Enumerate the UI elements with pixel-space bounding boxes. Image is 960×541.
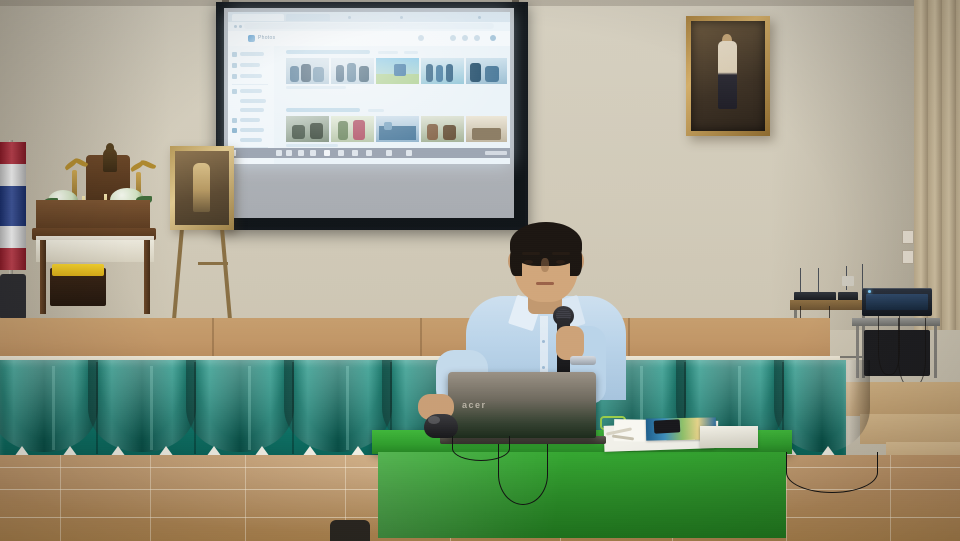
address-bar[interactable] xyxy=(244,23,494,29)
upload-icon[interactable] xyxy=(450,35,456,41)
taskbar-icon[interactable] xyxy=(386,150,392,156)
mouse-highlight xyxy=(428,416,440,424)
os-taskbar[interactable] xyxy=(228,148,510,158)
thai-flag xyxy=(0,142,26,270)
photo-thumbnail[interactable] xyxy=(376,116,419,142)
stacked-books xyxy=(700,426,758,448)
taskbar-icon[interactable] xyxy=(352,150,358,156)
tab-dot-icon xyxy=(400,16,403,19)
share-icon xyxy=(232,74,237,79)
antenna xyxy=(800,268,801,294)
section-title xyxy=(286,50,370,54)
archive-icon xyxy=(232,118,237,123)
cable-bundle xyxy=(330,520,370,541)
wall-outlet xyxy=(902,250,914,264)
sidebar-item-label xyxy=(240,74,262,78)
help-icon[interactable] xyxy=(462,35,468,41)
hair-side-left xyxy=(510,246,522,276)
settings-icon[interactable] xyxy=(474,35,480,41)
desk-highlight xyxy=(378,452,786,538)
cable xyxy=(878,316,900,375)
photo-scene: Photos xyxy=(0,0,960,541)
section-meta xyxy=(404,51,418,54)
small-box xyxy=(842,276,854,286)
taskbar-icon[interactable] xyxy=(310,150,316,156)
app-sidebar xyxy=(228,46,274,164)
wall-outlet xyxy=(902,230,914,244)
easel-crossbar xyxy=(198,262,228,265)
laptop-brand-logo: acer xyxy=(462,400,487,410)
taskbar-icon[interactable] xyxy=(324,150,330,156)
sidebar-item-label xyxy=(240,128,264,132)
section-caption xyxy=(286,144,338,147)
photo-thumbnail[interactable] xyxy=(331,58,374,84)
mouth xyxy=(536,282,554,285)
sidebar-item-label xyxy=(240,99,266,103)
section-title xyxy=(286,108,360,112)
photo-thumbnail[interactable] xyxy=(376,58,419,84)
photo-thumbnail[interactable] xyxy=(421,116,464,142)
shirt-button xyxy=(542,340,545,343)
app-name-label: Photos xyxy=(258,35,275,41)
browser-tab[interactable] xyxy=(232,14,284,21)
projected-browser-window[interactable]: Photos xyxy=(228,12,510,164)
search-icon[interactable] xyxy=(418,35,424,41)
taskbar-icon[interactable] xyxy=(366,150,372,156)
amplifier-panel xyxy=(866,294,928,310)
sidebar-item-label xyxy=(240,89,262,93)
cable xyxy=(498,444,548,505)
sidebar-item-label xyxy=(240,63,260,67)
nose xyxy=(541,258,549,272)
browser-tab[interactable] xyxy=(286,14,330,21)
eyebrow-left xyxy=(522,252,540,255)
photo-thumbnail[interactable] xyxy=(331,116,374,142)
section-meta xyxy=(368,109,384,112)
photos-logo-icon xyxy=(248,35,255,42)
stage-step xyxy=(860,414,960,444)
eye-right xyxy=(556,260,565,264)
avatar[interactable] xyxy=(490,35,496,41)
eyebrow-right xyxy=(552,252,570,255)
sidebar-item-label xyxy=(240,118,260,122)
cable xyxy=(786,452,878,493)
table-leg xyxy=(934,326,937,378)
altar-shelf xyxy=(36,200,150,230)
shirt-button xyxy=(542,366,545,369)
photo-thumbnail[interactable] xyxy=(286,116,329,142)
wristwatch xyxy=(570,356,596,365)
tab-new-icon[interactable] xyxy=(348,16,351,19)
photo-thumbnail[interactable] xyxy=(466,116,507,142)
buddha-head xyxy=(106,143,114,152)
taskbar-icon[interactable] xyxy=(276,150,282,156)
power-led xyxy=(868,290,871,293)
cable xyxy=(898,318,926,387)
taskbar-icon[interactable] xyxy=(406,150,412,156)
antenna xyxy=(862,264,863,290)
window-curtain xyxy=(914,0,960,330)
bench-cushion xyxy=(52,264,104,276)
sidebar-item-label xyxy=(240,52,264,56)
framed-portrait-right xyxy=(686,16,770,136)
eye-left xyxy=(524,260,533,264)
taskbar-icon[interactable] xyxy=(298,150,304,156)
antenna xyxy=(818,268,819,294)
explore-icon xyxy=(232,63,237,68)
sidebar-item-label xyxy=(240,138,262,142)
window-control-icon[interactable] xyxy=(478,16,481,19)
taskbar-icon[interactable] xyxy=(338,150,344,156)
presenter-right-hand xyxy=(556,326,584,360)
photo-thumbnail[interactable] xyxy=(466,58,507,84)
framed-portrait-left xyxy=(170,146,234,230)
section-caption xyxy=(286,86,346,89)
sidebar-item-label xyxy=(240,108,264,112)
taskbar-icon[interactable] xyxy=(286,150,292,156)
smartphone[interactable] xyxy=(654,419,681,433)
taskbar-clock[interactable] xyxy=(485,151,507,155)
section-meta xyxy=(378,51,398,54)
albums-icon xyxy=(232,89,237,94)
bag-on-floor xyxy=(0,274,26,320)
photo-thumbnail[interactable] xyxy=(286,58,329,84)
trash-icon xyxy=(232,128,237,133)
back-icon[interactable] xyxy=(234,25,237,28)
photo-thumbnail[interactable] xyxy=(421,58,464,84)
hair-side-right xyxy=(570,246,582,276)
forward-icon[interactable] xyxy=(239,25,242,28)
photo-icon xyxy=(232,52,237,57)
